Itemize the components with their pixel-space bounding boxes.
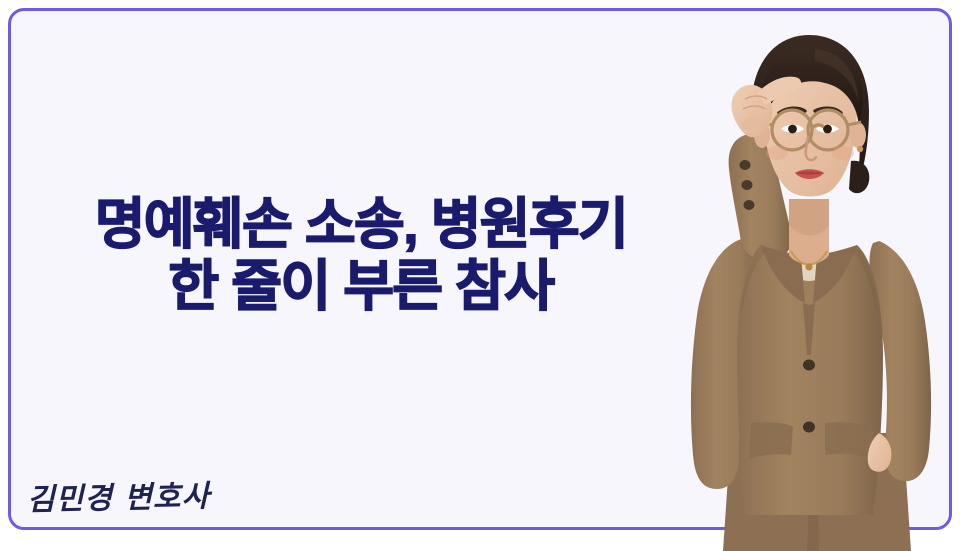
- headline: 명예훼손 소송, 병원후기 한 줄이 부른 참사: [11, 194, 711, 317]
- lawyer-illustration: [611, 3, 960, 551]
- headline-line-1: 명예훼손 소송, 병원후기: [11, 194, 711, 256]
- author-caption: 김민경 변호사: [27, 471, 211, 519]
- thumbnail-card: 명예훼손 소송, 병원후기 한 줄이 부른 참사 김민경 변호사: [8, 8, 952, 530]
- headline-line-2: 한 줄이 부른 참사: [11, 256, 711, 318]
- lawyer-photo: [611, 3, 960, 551]
